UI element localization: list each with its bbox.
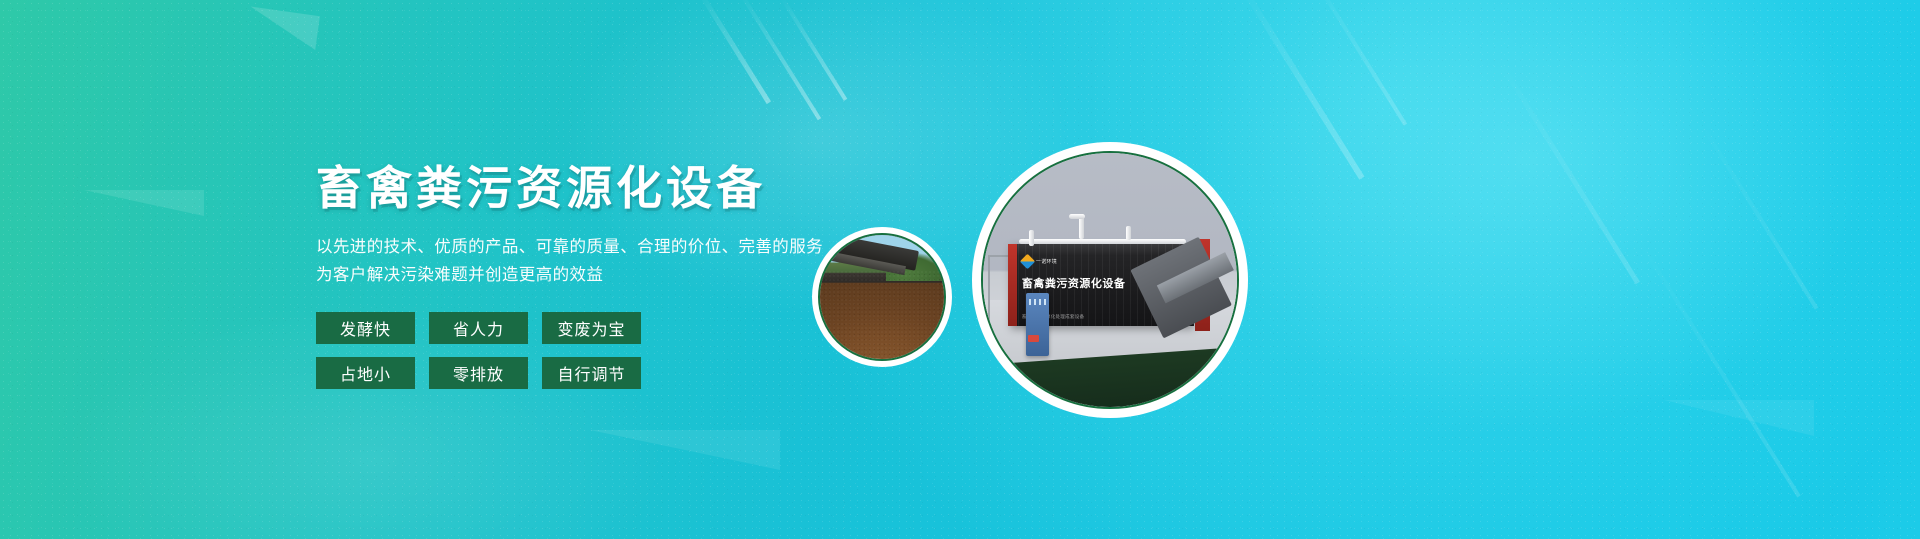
- unit-red-front-cap: [1008, 244, 1016, 325]
- light-streak: [1498, 61, 1640, 284]
- feature-tag-labor-saving[interactable]: 省人力: [429, 312, 528, 344]
- feature-tag-fermentation-fast[interactable]: 发酵快: [316, 312, 415, 344]
- pipe-cap: [1069, 214, 1085, 219]
- feature-tag-list: 发酵快 省人力 变废为宝 占地小 零排放 自行调节: [316, 312, 656, 389]
- promo-banner: 畜禽粪污资源化设备 以先进的技术、优质的产品、可靠的质量、合理的价位、完善的服务…: [0, 0, 1920, 539]
- page-title: 畜禽粪污资源化设备: [316, 165, 936, 211]
- decor-triangle: [560, 430, 780, 470]
- decor-triangle: [1640, 400, 1814, 436]
- logo-text: 一诺环境: [1036, 258, 1057, 265]
- brand-logo: 一诺环境: [1022, 256, 1057, 267]
- cabinet-button: [1028, 335, 1039, 343]
- equipment-render-image: 一诺环境 畜禽粪污资源化设备 畜禽粪污资源化处理成套设备: [983, 153, 1237, 407]
- equipment-render-photo[interactable]: 一诺环境 畜禽粪污资源化设备 畜禽粪污资源化处理成套设备: [972, 142, 1248, 418]
- feature-tag-small-footprint[interactable]: 占地小: [316, 357, 415, 389]
- decor-triangle: [70, 190, 204, 216]
- pipe-assembly: [1019, 214, 1187, 255]
- light-streak: [698, 0, 771, 104]
- photo-ring-border: [818, 233, 946, 361]
- light-streak: [1237, 0, 1364, 180]
- light-streak: [780, 0, 847, 101]
- decor-triangle: [228, 4, 320, 50]
- background-glow-right: [1180, 0, 1880, 440]
- light-streak: [1308, 0, 1407, 126]
- light-streak: [1698, 121, 1818, 310]
- pipe-vertical: [1029, 230, 1034, 246]
- feature-tag-zero-emission[interactable]: 零排放: [429, 357, 528, 389]
- light-streak: [1638, 241, 1800, 498]
- background-noise-texture: [0, 0, 1920, 539]
- control-cabinet: [1026, 293, 1049, 357]
- feature-tag-waste-to-treasure[interactable]: 变废为宝: [542, 312, 641, 344]
- cabinet-display: [1029, 299, 1046, 305]
- pipe-vertical: [1126, 226, 1131, 240]
- feature-tag-self-adjusting[interactable]: 自行调节: [542, 357, 641, 389]
- compost-pile-image: [820, 235, 944, 359]
- compost-pile-photo[interactable]: [812, 227, 952, 367]
- photo-ring-border: 一诺环境 畜禽粪污资源化设备 畜禽粪污资源化处理成套设备: [981, 151, 1239, 409]
- compost-texture: [820, 270, 944, 359]
- logo-mark-icon: [1020, 254, 1036, 270]
- pipe-horizontal: [1019, 239, 1187, 244]
- light-streak: [738, 0, 821, 120]
